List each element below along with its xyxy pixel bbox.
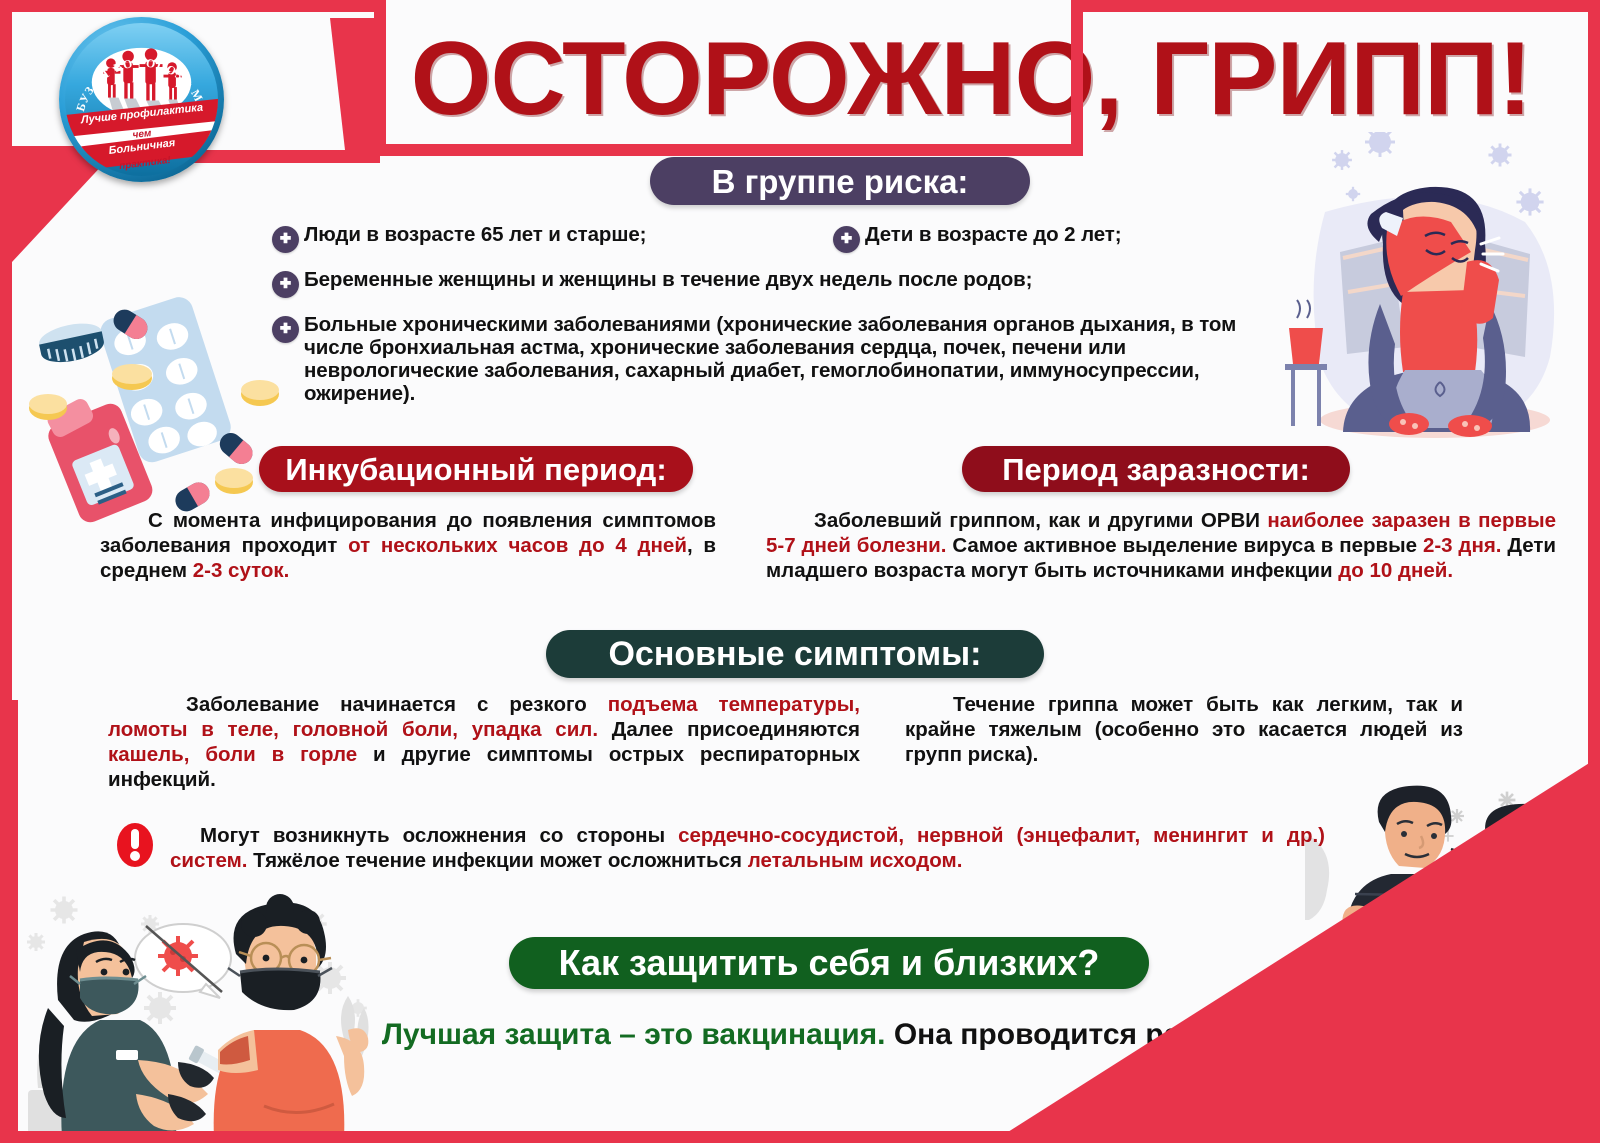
plain-text: Тяжёлое течение инфекции может осложнить… — [247, 849, 747, 872]
risk-item-children: Дети в возрасте до 2 лет; — [833, 224, 1121, 253]
risk-item-label: Больные хроническими заболеваниями (хрон… — [304, 314, 1272, 406]
coughing-couple-illustration — [1305, 778, 1595, 948]
risk-item-elderly: Люди в возрасте 65 лет и старше; — [272, 224, 646, 253]
vaccination-black-text: Она проводится раз в год. — [886, 1018, 1289, 1051]
medicines-pills-illustration — [22, 296, 284, 528]
risk-item-label: Беременные женщины и женщины в течение д… — [304, 269, 1032, 292]
plus-cross-icon — [272, 271, 299, 298]
sick-woman-coughing-illustration — [1285, 132, 1585, 448]
complications-paragraph: Могут возникнуть осложнения со стороны с… — [170, 823, 1325, 873]
protection-badge-label: Как защитить себя и близких? — [559, 945, 1100, 981]
highlighted-text: летальным исходом. — [748, 849, 963, 872]
highlighted-text: 2-3 суток. — [193, 559, 290, 582]
highlighted-text: кашель, боли в горле — [108, 743, 357, 766]
exclamation-circle-icon — [115, 822, 155, 868]
plain-text: Могут возникнуть осложнения со стороны — [200, 824, 678, 847]
poster-title-text: ОСТОРОЖНО, ГРИПП! — [411, 27, 1532, 131]
highlighted-text: до 10 дней. — [1338, 559, 1453, 582]
risk-item-chronic: Больные хроническими заболеваниями (хрон… — [272, 314, 1272, 406]
vaccination-nurse-patient-illustration — [18, 880, 370, 1138]
organization-logo: ГБУЗ ОТ ВО "ОЦОЗ и МП" Лучше профилактик… — [59, 17, 224, 182]
plain-text: Самое активное выделение вируса в первые — [946, 534, 1422, 557]
plain-text: Заболевший гриппом, как и другими ОРВИ — [814, 509, 1267, 532]
protection-badge: Как защитить себя и близких? — [509, 937, 1149, 989]
plus-cross-icon — [833, 226, 860, 253]
contagious-badge-label: Период заразности: — [1002, 454, 1310, 485]
vaccination-green-text: Лучшая защита – это вакцинация. — [382, 1018, 886, 1051]
complications-block: Могут возникнуть осложнения со стороны с… — [170, 823, 1325, 873]
symptoms-badge: Основные симптомы: — [546, 630, 1044, 678]
poster-root: ГБУЗ ОТ ВО "ОЦОЗ и МП" Лучше профилактик… — [0, 0, 1600, 1143]
contagious-paragraph: Заболевший гриппом, как и другими ОРВИ н… — [766, 508, 1556, 583]
risk-item-pregnant: Беременные женщины и женщины в течение д… — [272, 269, 1032, 298]
risk-group-badge-label: В группе риска: — [712, 165, 969, 198]
incubation-badge: Инкубационный период: — [259, 446, 693, 492]
poster-title: ОСТОРОЖНО, ГРИПП! — [366, 20, 1576, 138]
plain-text: Далее присоединяются — [598, 718, 860, 741]
incubation-paragraph: С момента инфицирования до появления сим… — [100, 508, 716, 583]
plus-cross-icon — [272, 316, 299, 343]
symptoms-left-paragraph: Заболевание начинается с резкого подъема… — [108, 692, 860, 792]
plus-cross-icon — [272, 226, 299, 253]
risk-group-badge: В группе риска: — [650, 157, 1030, 205]
vaccination-line: Лучшая защита – это вакцинация. Она пров… — [370, 1018, 1300, 1052]
plain-text: Течение гриппа может быть как легким, та… — [905, 693, 1463, 766]
symptoms-badge-label: Основные симптомы: — [608, 637, 981, 671]
contagious-badge: Период заразности: — [962, 446, 1350, 492]
risk-item-label: Люди в возрасте 65 лет и старше; — [304, 224, 646, 247]
risk-item-label: Дети в возрасте до 2 лет; — [865, 224, 1121, 247]
highlighted-text: 2-3 дня. — [1423, 534, 1502, 557]
plain-text: Заболевание начинается с резкого — [186, 693, 608, 716]
symptoms-right-paragraph: Течение гриппа может быть как легким, та… — [905, 692, 1463, 767]
incubation-badge-label: Инкубационный период: — [285, 454, 666, 485]
highlighted-text: от нескольких часов до 4 дней — [348, 534, 687, 557]
